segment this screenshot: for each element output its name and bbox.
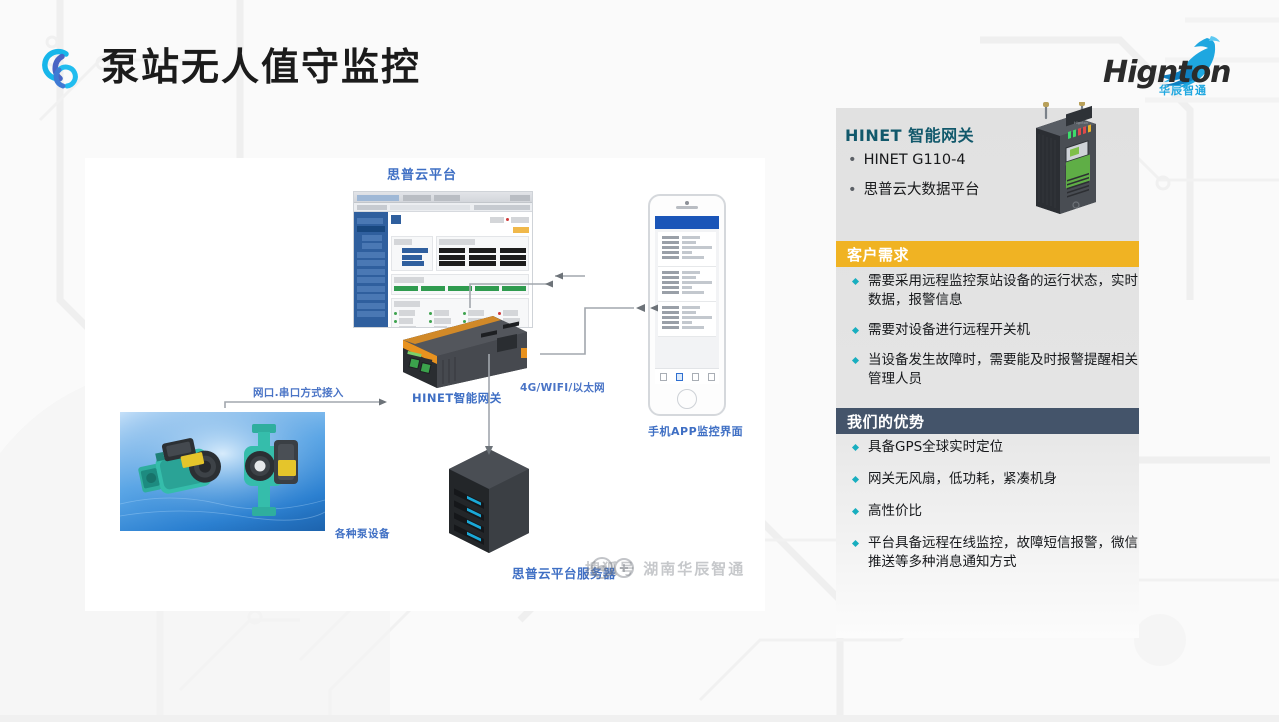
svg-text:Hignton: Hignton xyxy=(1074,121,1088,125)
diamond-bullet-icon xyxy=(852,476,859,483)
architecture-diagram-card: 思普云平台 xyxy=(85,158,765,611)
bottom-edge-bar xyxy=(0,715,1279,722)
interlocking-rings-logo-icon xyxy=(36,42,92,96)
gateway-spec-item: •HINET G110-4 xyxy=(848,152,966,168)
page-title: 泵站无人值守监控 xyxy=(101,41,421,93)
hignton-brand-logo: Hignton 华辰智通 xyxy=(1099,30,1239,100)
diamond-bullet-icon xyxy=(852,444,859,451)
list-item: 当设备发生故障时，需要能及时报警提醒相关管理人员 xyxy=(844,351,1140,389)
customer-needs-header: 客户需求 xyxy=(836,241,1139,267)
customer-needs-list: 需要采用远程监控泵站设备的运行状态，实时数据，报警信息 需要对设备进行远程开关机… xyxy=(844,272,1140,400)
gateway-spec-item: •思普云大数据平台 xyxy=(848,178,980,199)
list-item: 需要采用远程监控泵站设备的运行状态，实时数据，报警信息 xyxy=(844,272,1140,310)
bullet-icon: • xyxy=(848,182,857,198)
hinet-gateway-product-image: Hignton xyxy=(1024,102,1102,220)
svg-text:华辰智通: 华辰智通 xyxy=(1159,83,1207,97)
gateway-panel-title: HINET 智能网关 xyxy=(845,122,974,146)
wireless-link-label: 4G/WIFI/以太网 xyxy=(520,380,605,395)
diamond-bullet-icon xyxy=(852,508,859,515)
list-item: 具备GPS全球实时定位 xyxy=(844,438,1140,457)
advantages-heading: 我们的优势 xyxy=(847,411,925,432)
gateway-product-block: HINET 智能网关 •HINET G110-4 •思普云大数据平台 xyxy=(836,108,1139,228)
diamond-bullet-icon xyxy=(852,357,859,364)
list-item: 网关无风扇，低功耗，紧凑机身 xyxy=(844,470,1140,489)
connection-arrows xyxy=(85,158,765,611)
list-item: 高性价比 xyxy=(844,502,1140,521)
diamond-bullet-icon xyxy=(852,278,859,285)
customer-needs-heading: 客户需求 xyxy=(847,244,909,265)
advantages-list: 具备GPS全球实时定位 网关无风扇，低功耗，紧凑机身 高性价比 平台具备远程在线… xyxy=(844,438,1140,585)
advantages-header: 我们的优势 xyxy=(836,408,1139,434)
bullet-icon: • xyxy=(848,152,857,168)
list-item: 平台具备远程在线监控，故障短信报警，微信推送等多种消息通知方式 xyxy=(844,534,1140,572)
list-item: 需要对设备进行远程开关机 xyxy=(844,321,1140,340)
wired-link-label: 网口.串口方式接入 xyxy=(253,385,344,400)
diamond-bullet-icon xyxy=(852,327,859,334)
diamond-bullet-icon xyxy=(852,540,859,547)
